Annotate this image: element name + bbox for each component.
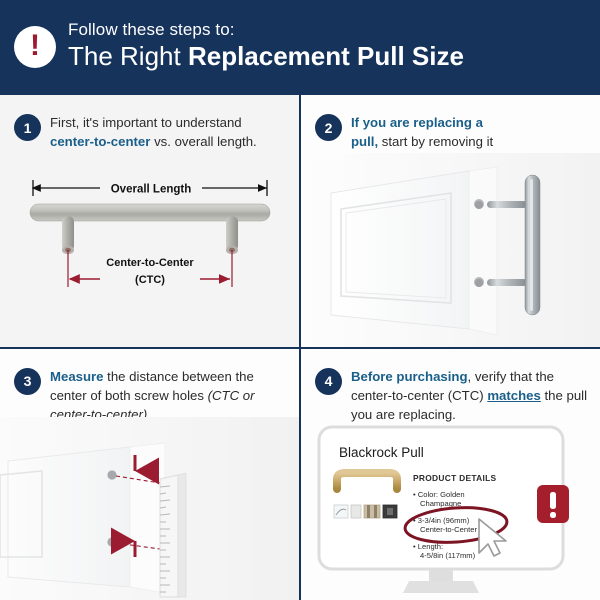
ctc-label: Center-to-Center bbox=[106, 257, 194, 269]
ruler-measure-photo bbox=[0, 417, 299, 600]
pull-post-lower bbox=[487, 279, 527, 286]
monitor-base bbox=[403, 581, 479, 593]
step-1-text: First, it's important to understand cent… bbox=[50, 113, 287, 152]
detail-bullet-2-line-2: Center-to-Center bbox=[420, 525, 477, 534]
step-number-badge-1: 1 bbox=[14, 114, 41, 141]
step-number-badge-2: 2 bbox=[315, 114, 342, 141]
step-3-text-highlight: Measure bbox=[50, 369, 104, 384]
product-details-heading: PRODUCT DETAILS bbox=[413, 473, 497, 483]
header-text-group: Follow these steps to: The Right Replace… bbox=[68, 21, 464, 72]
step-number-badge-4: 4 bbox=[315, 368, 342, 395]
overall-length-label: Overall Length bbox=[111, 184, 192, 196]
step-1-text-c: vs. overall length. bbox=[150, 134, 256, 149]
monitor-svg: Blackrock Pull PRO bbox=[301, 413, 600, 600]
screw-hole-lower-3 bbox=[107, 537, 116, 546]
exclamation-circle-icon: ! bbox=[14, 26, 56, 68]
cabinet-door-3 bbox=[8, 447, 130, 587]
infographic-root: ! Follow these steps to: The Right Repla… bbox=[0, 0, 600, 600]
cabinet-door-photo bbox=[301, 153, 600, 347]
product-thumbnails[interactable] bbox=[334, 505, 397, 518]
detail-bullet-2-line-1: • 3-3/4in (96mm) bbox=[413, 516, 470, 525]
step-panel-4: 4 Before purchasing, verify that the cen… bbox=[301, 349, 600, 600]
steps-grid: 1 First, it's important to understand ce… bbox=[0, 93, 600, 600]
pull-post-upper bbox=[487, 201, 527, 208]
header-banner: ! Follow these steps to: The Right Repla… bbox=[0, 0, 600, 93]
step-1-text-highlight: center-to-center bbox=[50, 134, 150, 149]
cabinet-door-stile bbox=[469, 167, 497, 335]
header-kicker: Follow these steps to: bbox=[68, 21, 464, 40]
step-number-badge-3: 3 bbox=[14, 368, 41, 395]
page-title-bold: Replacement Pull Size bbox=[188, 41, 464, 71]
page-title: The Right Replacement Pull Size bbox=[68, 42, 464, 72]
step-panel-1: 1 First, it's important to understand ce… bbox=[0, 95, 299, 347]
pull-diagram-svg: Overall Length bbox=[0, 171, 299, 346]
pull-measurement-diagram: Overall Length bbox=[0, 171, 299, 346]
step-1-text-a: First, it's important to understand bbox=[50, 115, 242, 130]
page-title-light: The Right bbox=[68, 41, 188, 71]
step-3-header: 3 Measure the distance between the cente… bbox=[0, 349, 299, 425]
step-4-text-highlight: Before purchasing bbox=[351, 369, 468, 384]
detail-bullet-1-line-1: • Color: Golden bbox=[413, 490, 465, 499]
cabinet-door-svg bbox=[301, 153, 600, 347]
product-listing-monitor: Blackrock Pull PRO bbox=[301, 413, 600, 600]
ctc-sublabel: (CTC) bbox=[135, 274, 165, 286]
step-panel-2: 2 If you are replacing a pull, start by … bbox=[301, 95, 600, 347]
step-1-header: 1 First, it's important to understand ce… bbox=[0, 95, 299, 152]
exclamation-glyph: ! bbox=[30, 31, 40, 61]
ruler-measure-svg bbox=[0, 417, 299, 600]
detail-bullet-3-line-2: 4-5/8in (117mm) bbox=[420, 551, 476, 560]
product-title: Blackrock Pull bbox=[339, 445, 424, 460]
step-4-matches-link[interactable]: matches bbox=[487, 388, 541, 403]
screw-hole-upper-3 bbox=[107, 470, 116, 479]
step-panel-3: 3 Measure the distance between the cente… bbox=[0, 349, 299, 600]
cabinet-door-front bbox=[331, 171, 469, 329]
